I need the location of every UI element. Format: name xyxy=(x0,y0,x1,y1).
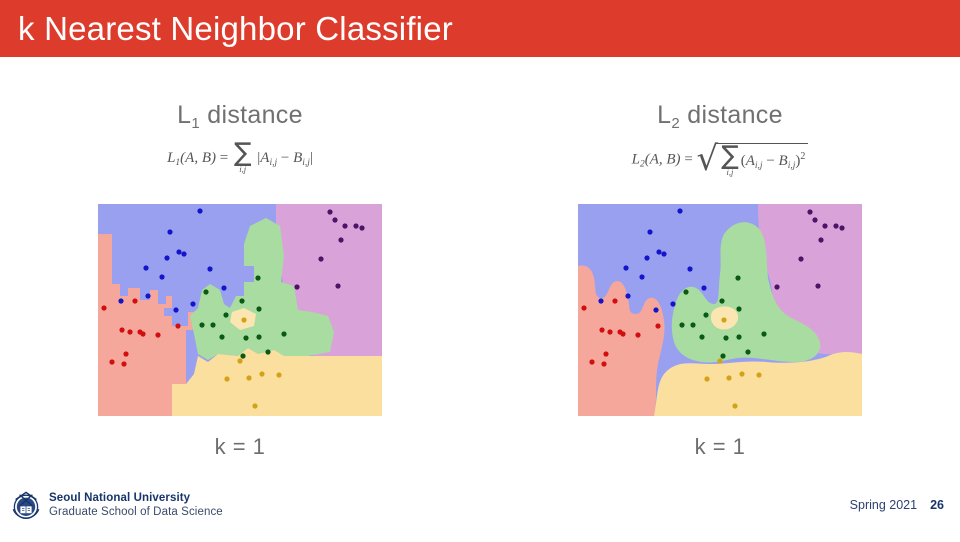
l2-term-b: B xyxy=(779,153,788,169)
l1-formula: L1(A, B) = ∑ i,j |Ai,j − Bi,j| xyxy=(0,143,480,174)
panel-l2-distance: L2 distance L2(A, B) = √ ∑ i,j (Ai,j − B… xyxy=(480,57,960,482)
university-name: Seoul National University xyxy=(49,492,223,506)
l2-term-a-sub: i,j xyxy=(755,161,763,171)
l1-term-a-sub: i,j xyxy=(269,158,277,168)
university-brand: Seoul National University Graduate Schoo… xyxy=(10,490,223,522)
l1-distance-heading: L1 distance xyxy=(0,101,480,130)
l2-heading-base: L xyxy=(657,101,671,129)
l2-term-a: A xyxy=(746,153,755,169)
school-name: Graduate School of Data Science xyxy=(49,506,223,520)
page-number: 26 xyxy=(930,498,944,512)
l2-power: 2 xyxy=(800,151,805,162)
l1-formula-args: (A, B) xyxy=(180,150,216,166)
l2-formula-lhs: L xyxy=(632,151,640,167)
l2-radical-sign: √ xyxy=(697,149,719,169)
l1-heading-base: L xyxy=(177,101,191,129)
panel-l1-distance: L1 distance L1(A, B) = ∑ i,j |Ai,j − Bi,… xyxy=(0,57,480,482)
l2-formula-args: (A, B) xyxy=(645,151,681,167)
l1-heading-rest: distance xyxy=(200,101,303,129)
semester-label: Spring 2021 xyxy=(850,498,917,512)
page-title: k Nearest Neighbor Classifier xyxy=(0,12,453,45)
l2-distance-heading: L2 distance xyxy=(480,101,960,130)
l2-sum-symbol: ∑ xyxy=(721,147,739,166)
knn-decision-boundary-l2 xyxy=(578,204,862,416)
l2-radical: √ ∑ i,j (Ai,j − Bi,j)2 xyxy=(697,143,809,177)
knn-decision-boundary-l1 xyxy=(98,204,382,416)
l2-minus: − xyxy=(766,153,774,169)
l2-formula: L2(A, B) = √ ∑ i,j (Ai,j − Bi,j)2 xyxy=(480,143,960,177)
slide-title-bar: k Nearest Neighbor Classifier xyxy=(0,0,960,57)
l1-summation: ∑ i,j xyxy=(234,143,252,174)
footer-meta: Spring 2021 26 xyxy=(850,498,944,512)
l1-abs-close: | xyxy=(310,150,313,166)
l2-heading-rest: distance xyxy=(680,101,783,129)
snu-crest-logo xyxy=(10,490,42,522)
l2-k-label: k = 1 xyxy=(480,434,960,460)
slide-footer: Seoul National University Graduate Schoo… xyxy=(0,484,960,542)
l1-heading-sub: 1 xyxy=(191,115,200,132)
l1-term-b-sub: i,j xyxy=(302,158,310,168)
l2-formula-equals: = xyxy=(684,151,692,167)
l1-minus: − xyxy=(281,150,289,166)
l2-heading-sub: 2 xyxy=(671,115,680,132)
l2-summation: ∑ i,j xyxy=(721,146,739,177)
l2-radical-body: ∑ i,j (Ai,j − Bi,j)2 xyxy=(718,143,808,177)
l1-k-label: k = 1 xyxy=(0,434,480,460)
brand-text-block: Seoul National University Graduate Schoo… xyxy=(49,492,223,519)
l1-sum-symbol: ∑ xyxy=(234,144,252,163)
l1-term-b: B xyxy=(293,150,302,166)
l1-formula-equals: = xyxy=(220,150,228,166)
